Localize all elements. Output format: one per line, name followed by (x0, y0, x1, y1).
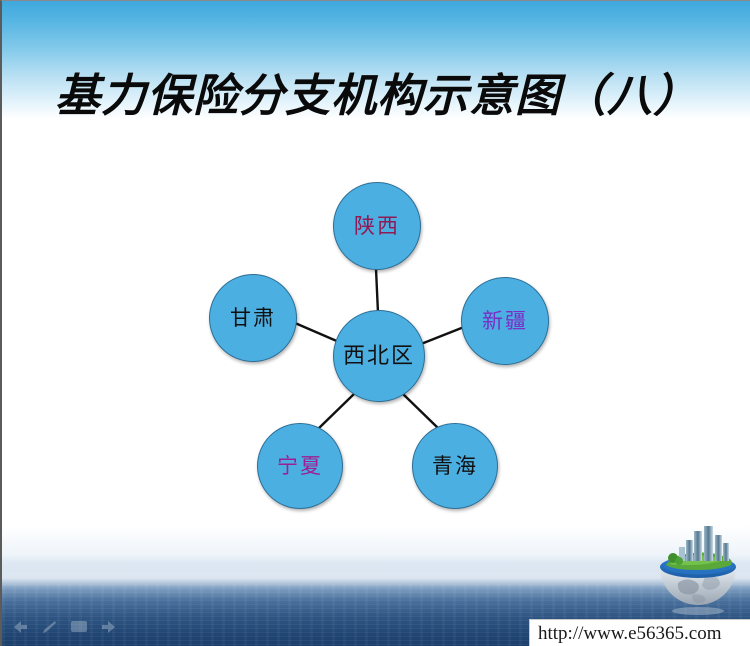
org-diagram: 陕西 甘肃 新疆 宁夏 青海 西北区 (2, 1, 750, 646)
diagram-node-center-northwest-region[interactable]: 西北区 (333, 310, 425, 402)
url-text: http://www.e56365.com (530, 623, 721, 645)
diagram-node-ningxia[interactable]: 宁夏 (257, 423, 343, 509)
slideshow-controls[interactable] (10, 619, 118, 634)
node-label: 甘肃 (230, 308, 276, 329)
node-label: 陕西 (354, 216, 400, 237)
presentation-slide: 基力保险分支机构示意图（八） 陕西 甘肃 新疆 宁夏 青海 (0, 0, 750, 646)
diagram-node-shaanxi[interactable]: 陕西 (333, 182, 421, 270)
node-label: 宁夏 (277, 456, 323, 477)
slideshow-menu-icon[interactable] (70, 619, 88, 634)
eco-city-globe-icon (650, 525, 746, 617)
node-label: 西北区 (343, 345, 415, 367)
diagram-node-qinghai[interactable]: 青海 (412, 423, 498, 509)
node-label: 新疆 (482, 311, 528, 332)
url-watermark: http://www.e56365.com (529, 619, 750, 646)
next-slide-icon[interactable] (100, 619, 118, 634)
diagram-node-xinjiang[interactable]: 新疆 (461, 277, 549, 365)
diagram-node-gansu[interactable]: 甘肃 (209, 274, 297, 362)
node-label: 青海 (432, 456, 478, 477)
pen-tool-icon[interactable] (40, 619, 58, 634)
previous-slide-icon[interactable] (10, 619, 28, 634)
